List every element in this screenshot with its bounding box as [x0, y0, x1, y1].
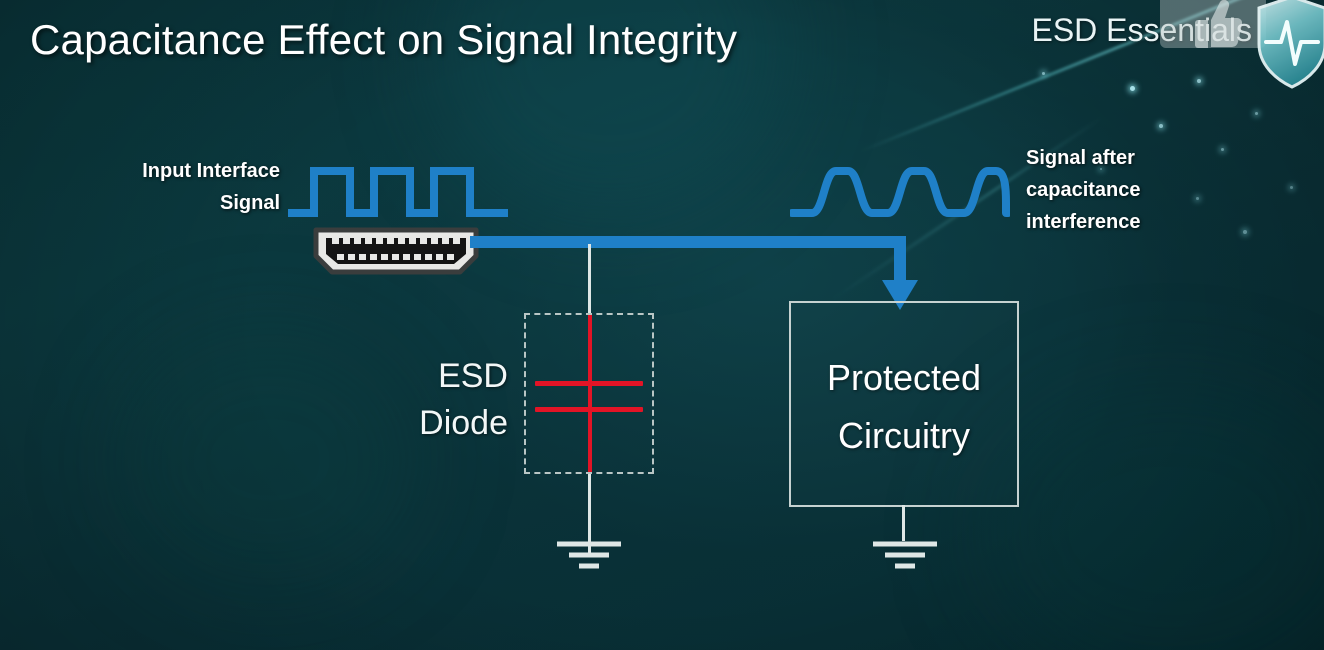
- ground-symbol-icon: [868, 538, 942, 572]
- slide-canvas: Capacitance Effect on Signal Integrity E…: [0, 0, 1324, 650]
- esd-diode-label-line2: Diode: [396, 400, 508, 447]
- capacitor-plate-bottom: [535, 407, 643, 412]
- esd-diode-dashed-boundary: [524, 313, 654, 474]
- background-glow-b: [120, 330, 420, 590]
- input-signal-label-line2: Signal: [40, 187, 280, 219]
- protected-circuitry-label: Protected Circuitry: [789, 349, 1019, 464]
- capacitor-plate-top: [535, 381, 643, 386]
- particle-dot: [1197, 79, 1201, 83]
- output-signal-label-line1: Signal after: [1026, 142, 1266, 174]
- output-signal-label: Signal after capacitance interference: [1026, 142, 1266, 238]
- page-title: Capacitance Effect on Signal Integrity: [30, 16, 737, 64]
- distorted-waveform: [790, 163, 1010, 221]
- background-glow-c: [980, 380, 1324, 650]
- input-signal-label-line1: Input Interface: [40, 155, 280, 187]
- protected-circuitry-label-line2: Circuitry: [789, 407, 1019, 465]
- output-signal-label-line3: interference: [1026, 206, 1266, 238]
- particle-dot: [1159, 124, 1163, 128]
- ground-symbol-icon: [552, 538, 626, 572]
- protected-circuitry-label-line1: Protected: [789, 349, 1019, 407]
- thumbs-up-icon: [1184, 0, 1242, 52]
- vignette-overlay: [0, 0, 1324, 650]
- thumbs-up-overlay: [1160, 0, 1266, 48]
- particle-dot: [1042, 72, 1045, 75]
- clean-square-waveform: [288, 163, 508, 221]
- particle-dot: [1255, 112, 1258, 115]
- protected-circuitry-ground-wire: [902, 505, 905, 541]
- esd-diode-label-line1: ESD: [396, 353, 508, 400]
- input-signal-label: Input Interface Signal: [40, 155, 280, 219]
- particle-dot: [1130, 86, 1135, 91]
- particle-dot: [1290, 186, 1293, 189]
- esd-diode-label: ESD Diode: [396, 353, 508, 447]
- output-signal-label-line2: capacitance: [1026, 174, 1266, 206]
- hdmi-connector-icon: [310, 226, 482, 278]
- shield-with-pulse-icon: [1254, 0, 1324, 90]
